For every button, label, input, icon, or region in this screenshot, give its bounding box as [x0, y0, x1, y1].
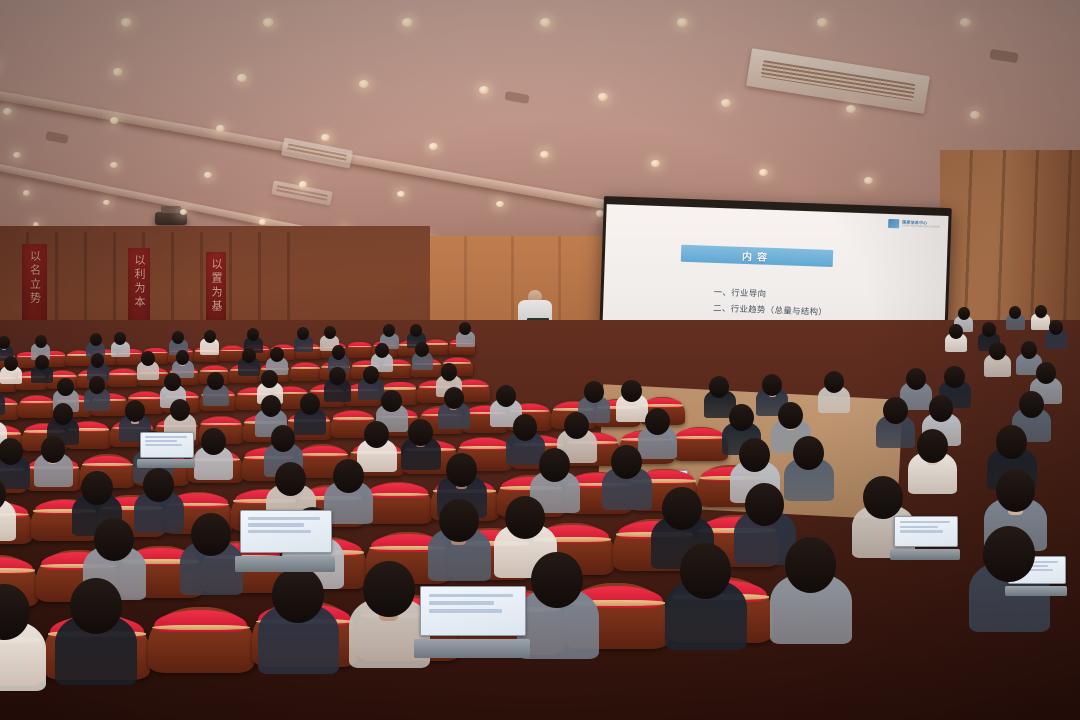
ceiling-speaker [45, 131, 68, 144]
audience-head [41, 436, 66, 463]
wall-banner: 以利为本 [128, 248, 150, 324]
audience-head [785, 537, 837, 593]
audience-head [709, 376, 729, 398]
ceiling-downlight [677, 18, 688, 27]
ceiling-downlight [237, 74, 247, 82]
audience-head [513, 414, 538, 441]
audience-head [824, 371, 844, 393]
ceiling-downlight [817, 18, 828, 27]
slide-title-banner: 内容 [681, 245, 834, 267]
laptop-keyboard [137, 459, 195, 468]
laptop-keyboard [1005, 586, 1068, 596]
wall-banner: 以置为基 [206, 252, 226, 322]
audience-head [793, 436, 824, 470]
audience-head [94, 518, 134, 561]
audience-head [1009, 306, 1021, 319]
audience-head [989, 342, 1006, 360]
wall-banner: 以名立势 [22, 244, 47, 328]
ceiling-downlight [496, 201, 504, 207]
audience-head [1035, 305, 1047, 318]
audience-head [91, 353, 105, 368]
ceiling-downlight [299, 181, 307, 187]
audience-head [645, 408, 670, 435]
ceiling-downlight [540, 18, 551, 27]
audience-head [191, 513, 231, 556]
seat [673, 427, 728, 461]
ceiling-downlight [651, 160, 660, 167]
laptop-keyboard [414, 639, 530, 658]
organization-logo: 国家信息中心 STATE INFORMATION CENTER [888, 219, 940, 230]
audience-head [944, 366, 964, 388]
audience-head [204, 330, 216, 343]
ceiling-downlight [846, 105, 856, 113]
audience-head [0, 438, 23, 465]
seat [347, 342, 373, 358]
logo-mark-icon [888, 219, 899, 228]
audience-head [662, 487, 702, 530]
auditorium-scene: 以名立势 以利为本 以置为基 国家信息中心 STATE INFORMATION … [0, 0, 1080, 720]
wall-banner-text: 以名立势 [27, 250, 43, 306]
audience-head [57, 378, 74, 396]
seat [364, 482, 432, 524]
audience-head [410, 324, 422, 337]
audience-head [35, 355, 49, 370]
audience-head [531, 552, 583, 608]
ceiling-downlight [110, 162, 118, 168]
ceiling-speaker [504, 91, 529, 104]
audience-head [297, 327, 309, 340]
ceiling-downlight [110, 117, 119, 124]
logo-subtitle: STATE INFORMATION CENTER [902, 225, 940, 229]
laptop-screen [240, 510, 332, 553]
audience-head [762, 374, 782, 396]
audience-head [201, 428, 226, 455]
audience-head [275, 462, 306, 496]
audience-head [441, 363, 458, 381]
audience-head [906, 368, 926, 390]
audience-head [261, 395, 281, 417]
audience-head [70, 578, 122, 634]
laptop-screen [140, 432, 194, 458]
list-item: 二、行业趋势（总量与结构） [713, 302, 827, 318]
audience-head [996, 469, 1036, 512]
ceiling-downlight [721, 99, 731, 107]
audience-head [680, 543, 732, 599]
audience-head [983, 526, 1035, 582]
ceiling-downlight [13, 152, 21, 158]
audience-head [176, 350, 190, 365]
seat [148, 607, 254, 673]
audience-head [958, 307, 970, 320]
ceiling-speaker [989, 49, 1018, 63]
audience-head [363, 366, 380, 384]
air-vent [281, 137, 353, 168]
audience-head [496, 385, 516, 407]
audience-head [0, 336, 10, 349]
ceiling-downlight [970, 111, 980, 119]
laptop-screen [420, 586, 526, 636]
audience-head [1036, 362, 1056, 384]
audience-head [172, 331, 184, 344]
audience-head [439, 499, 479, 542]
seat [108, 368, 139, 387]
audience-head [778, 402, 803, 429]
audience-head [363, 561, 415, 617]
ceiling-downlight [113, 68, 123, 76]
audience-head [1019, 391, 1044, 418]
ceiling-downlight [402, 18, 413, 27]
list-item: 一、行业导向 [714, 286, 828, 302]
ceiling-downlight [960, 18, 971, 27]
audience-head [729, 404, 754, 431]
audience-head [564, 412, 589, 439]
audience-head [324, 326, 336, 339]
audience-head [272, 567, 324, 623]
audience-head [270, 347, 284, 362]
laptop [240, 510, 330, 572]
laptop [420, 586, 524, 658]
ceiling-downlight [121, 18, 132, 27]
ceiling-downlight [864, 177, 873, 184]
ceiling-downlight [321, 134, 330, 141]
audience-head [381, 390, 401, 412]
audience-head [408, 419, 433, 446]
ceiling-downlight [759, 169, 768, 176]
laptop-keyboard [890, 549, 959, 560]
audience-head [929, 395, 954, 422]
laptop-screen [894, 516, 958, 547]
audience-head [207, 372, 224, 390]
ceiling-downlight [598, 93, 608, 101]
audience-head [917, 429, 948, 463]
audience-head [446, 453, 477, 487]
ceiling-downlight [23, 190, 30, 196]
laptop-keyboard [235, 556, 336, 572]
audience-head [1021, 341, 1038, 359]
audience-head [505, 496, 545, 539]
seat [290, 362, 321, 381]
audience-head [141, 351, 155, 366]
audience-head [332, 345, 346, 360]
ceiling-downlight [429, 143, 438, 150]
laptop [894, 516, 956, 560]
wall-banner-text: 以置为基 [208, 258, 224, 314]
audience-head [81, 471, 112, 505]
audience-head [863, 476, 903, 519]
audience-head [261, 370, 278, 388]
wall-banner-text: 以利为本 [131, 254, 147, 310]
audience-head [90, 333, 102, 346]
audience-head [333, 459, 364, 493]
audience-head [375, 343, 389, 358]
audience-head [364, 421, 389, 448]
audience-head [170, 399, 190, 421]
ceiling-downlight [259, 219, 266, 225]
audience-head [415, 342, 429, 357]
audience-head [242, 348, 256, 363]
ceiling-downlight [359, 80, 369, 88]
audience-head [35, 335, 47, 348]
audience-head [949, 324, 963, 339]
ceiling-downlight [397, 191, 405, 197]
audience-head [4, 356, 18, 371]
audience-head [125, 400, 145, 422]
audience-head [444, 387, 464, 409]
air-vent [746, 48, 930, 114]
ceiling-downlight [263, 18, 274, 27]
audience-head [329, 367, 346, 385]
seat [18, 395, 55, 418]
ceiling-downlight [540, 151, 549, 158]
audience-head [611, 445, 642, 479]
ceiling-downlight [204, 172, 212, 178]
audience-head [621, 380, 641, 402]
laptop [140, 432, 192, 468]
ceiling-downlight [479, 86, 489, 94]
ceiling-downlight [103, 200, 110, 206]
slide-title-text: 内容 [742, 248, 773, 264]
audience-head [883, 397, 908, 424]
ceiling-downlight [3, 108, 12, 115]
audience-head [745, 483, 785, 526]
